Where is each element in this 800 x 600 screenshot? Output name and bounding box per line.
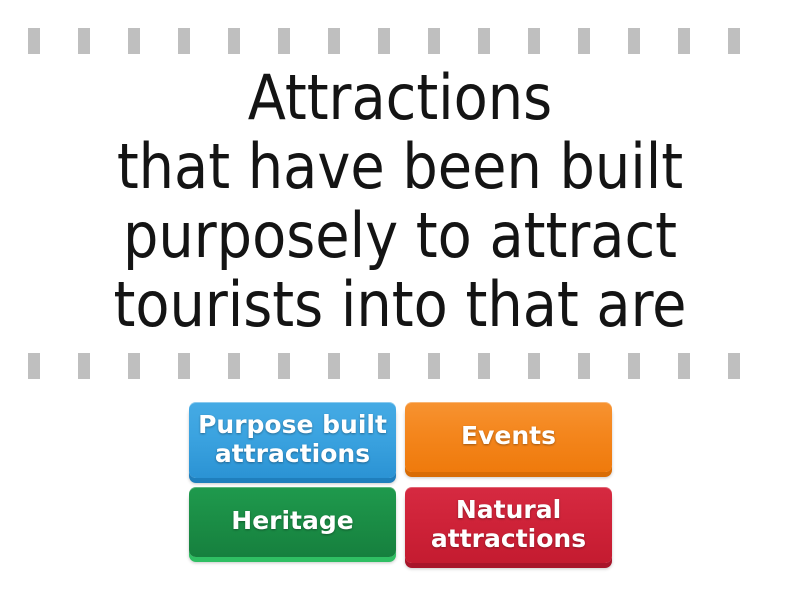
divider-dash xyxy=(78,28,90,54)
divider-dash xyxy=(278,28,290,54)
divider-dash xyxy=(578,353,590,379)
divider-dash xyxy=(178,28,190,54)
divider-dash xyxy=(628,28,640,54)
divider-dash xyxy=(678,353,690,379)
answer-option-purpose-built-attractions[interactable]: Purpose built attractions xyxy=(189,402,396,478)
prompt-line-4: tourists into that are xyxy=(113,270,686,339)
answer-label: Events xyxy=(413,421,604,450)
answer-options: Purpose built attractions Events Heritag… xyxy=(189,402,613,572)
divider-dash xyxy=(28,353,40,379)
divider-dash xyxy=(428,353,440,379)
dashed-divider-top xyxy=(0,28,800,54)
divider-dash xyxy=(678,28,690,54)
divider-dash xyxy=(378,353,390,379)
divider-dash xyxy=(478,28,490,54)
answer-option-natural-attractions[interactable]: Natural attractions xyxy=(405,487,612,563)
answer-row-2: Heritage Natural attractions xyxy=(189,487,613,563)
divider-dash xyxy=(278,353,290,379)
divider-dash xyxy=(328,28,340,54)
answer-label: Purpose built attractions xyxy=(197,410,388,468)
divider-dash xyxy=(628,353,640,379)
answer-row-1: Purpose built attractions Events xyxy=(189,402,613,478)
divider-dash xyxy=(128,28,140,54)
divider-dash xyxy=(228,353,240,379)
divider-dash xyxy=(528,353,540,379)
divider-dash xyxy=(328,353,340,379)
divider-dash xyxy=(728,353,740,379)
divider-dash xyxy=(228,28,240,54)
divider-dash xyxy=(728,28,740,54)
divider-dash xyxy=(128,353,140,379)
prompt-line-1: Attractions xyxy=(248,63,552,132)
divider-dash xyxy=(528,28,540,54)
prompt-line-3: purposely to attract xyxy=(123,201,677,270)
quiz-card: Attractions that have been built purpose… xyxy=(0,0,800,600)
divider-dash xyxy=(428,28,440,54)
prompt-line-2: that have been built xyxy=(117,132,683,201)
divider-dash xyxy=(478,353,490,379)
answer-label: Heritage xyxy=(197,506,388,535)
answer-label: Natural attractions xyxy=(413,495,604,553)
divider-dash xyxy=(378,28,390,54)
answer-option-events[interactable]: Events xyxy=(405,402,612,472)
question-prompt: Attractions that have been built purpose… xyxy=(0,62,800,340)
divider-dash xyxy=(578,28,590,54)
answer-option-heritage[interactable]: Heritage xyxy=(189,487,396,557)
divider-dash xyxy=(78,353,90,379)
dashed-divider-bottom xyxy=(0,353,800,379)
divider-dash xyxy=(178,353,190,379)
divider-dash xyxy=(28,28,40,54)
